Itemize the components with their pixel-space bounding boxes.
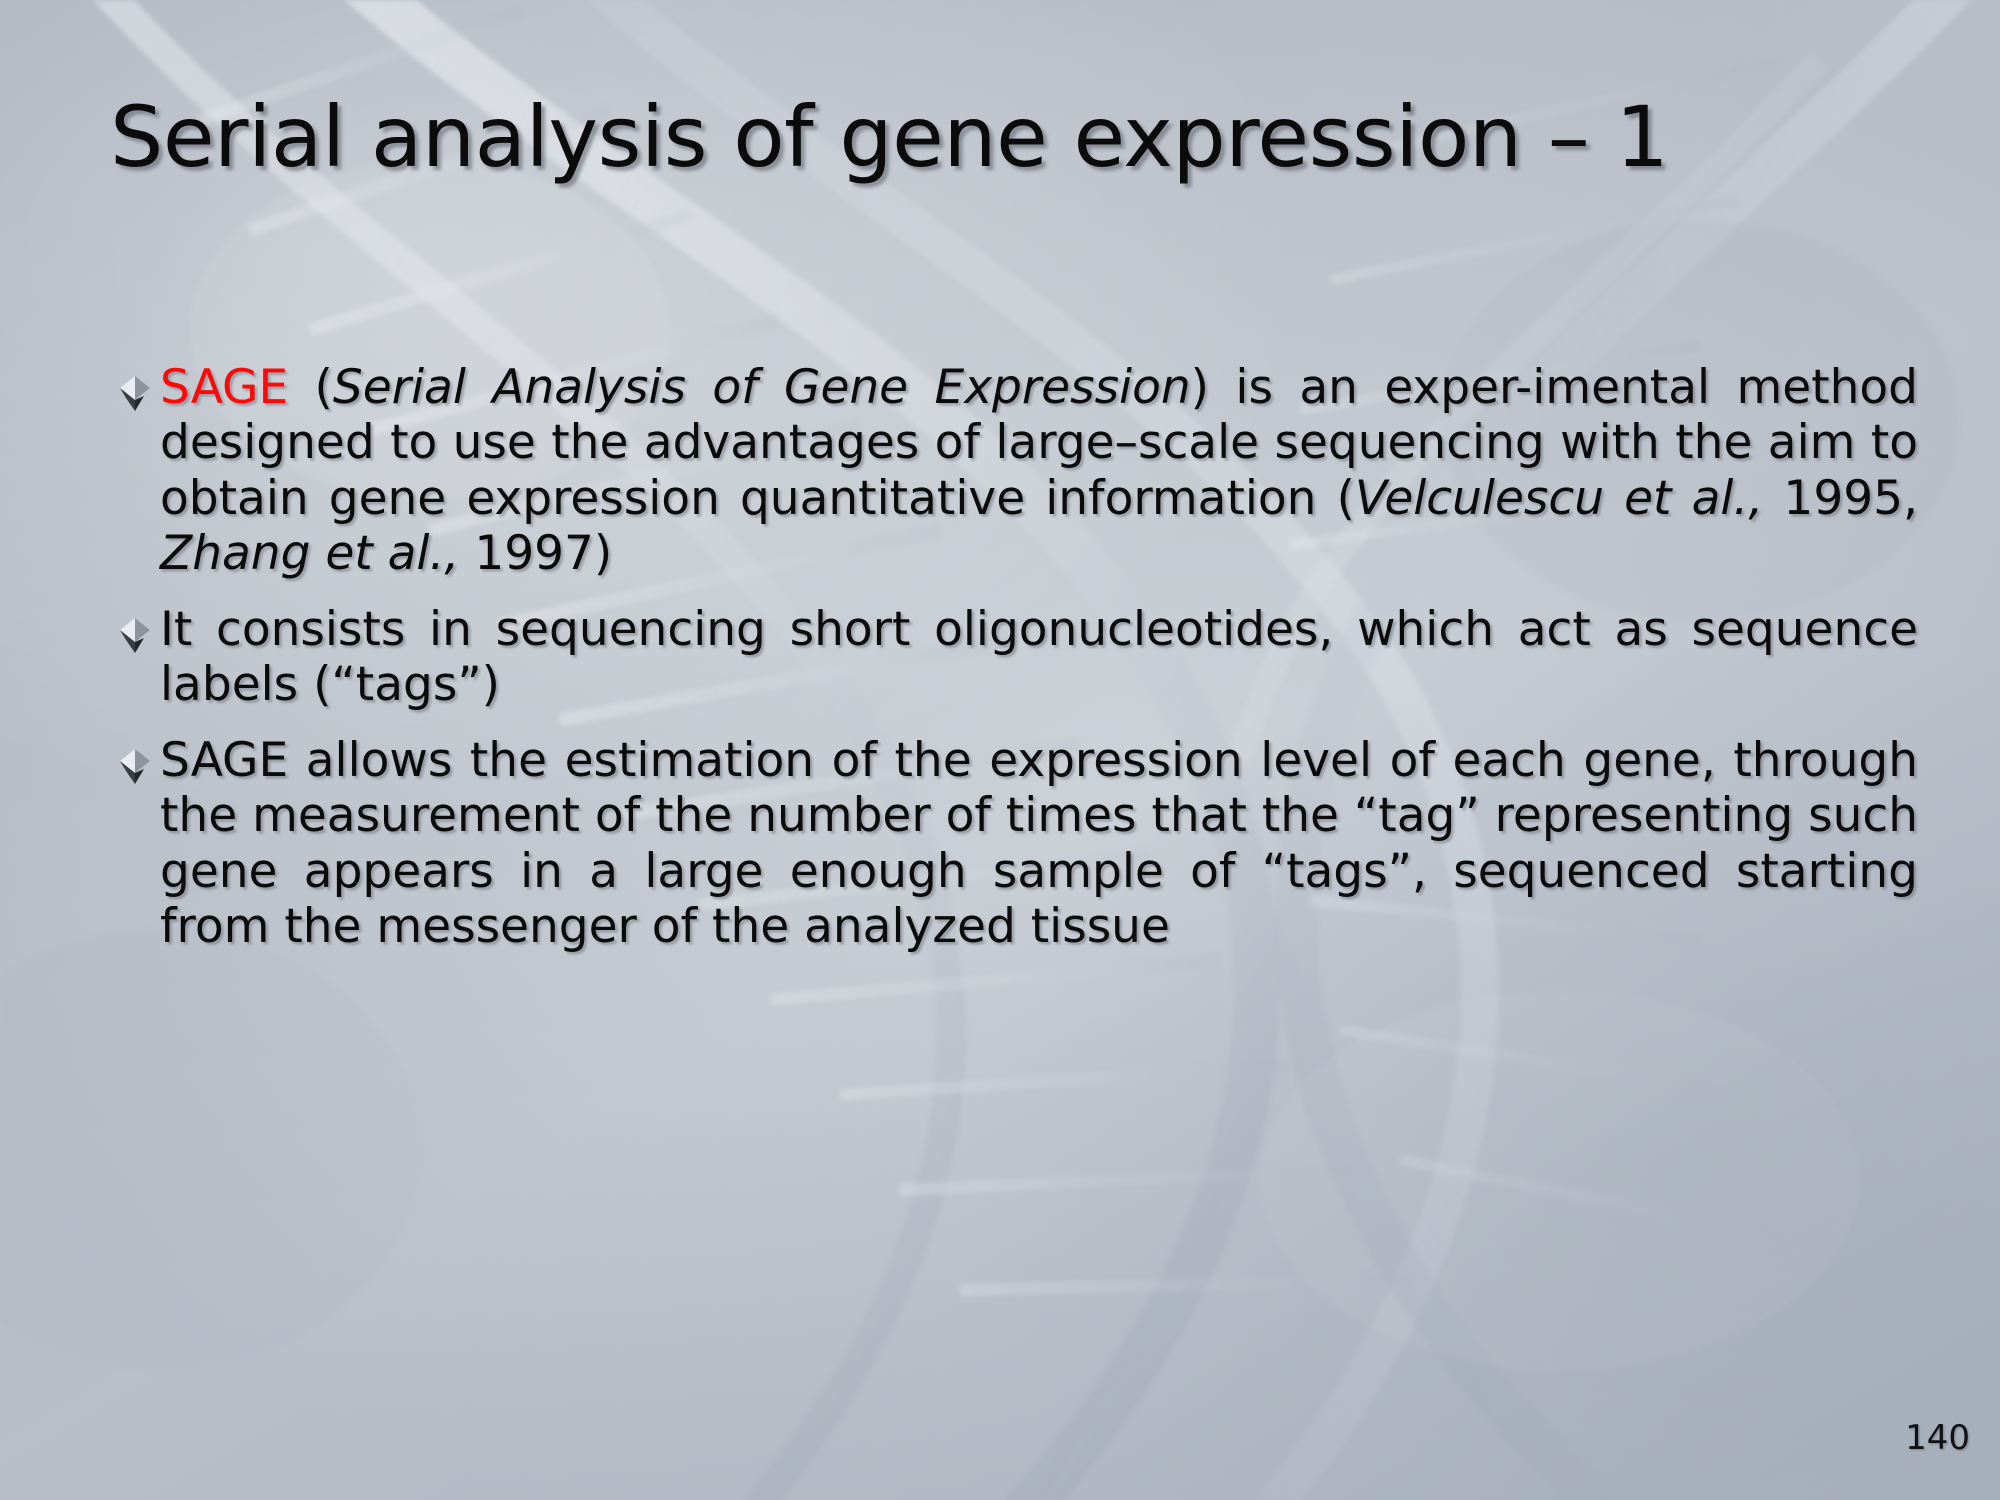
- bullet-text: SAGE (Serial Analysis of Gene Expression…: [160, 360, 1918, 582]
- bullet-item: SAGE (Serial Analysis of Gene Expression…: [118, 360, 1918, 582]
- bullet-text: It consists in sequencing short oligonuc…: [160, 602, 1918, 713]
- bullet-text: SAGE allows the estimation of the expres…: [160, 733, 1918, 955]
- slide-page-number: 140: [1905, 1418, 1970, 1458]
- bullet-item: SAGE allows the estimation of the expres…: [118, 733, 1918, 955]
- diamond-arrow-bullet-icon: [118, 747, 152, 793]
- bullet-segment: (: [288, 360, 333, 415]
- bullet-segment: It consists in sequencing short oligonuc…: [160, 602, 1918, 712]
- sage-keyword: SAGE: [160, 360, 288, 415]
- slide-body: SAGE (Serial Analysis of Gene Expression…: [118, 360, 1918, 975]
- bullet-segment: 1997): [459, 526, 612, 581]
- bullet-segment-italic: Serial Analysis of Gene Expression: [333, 360, 1191, 415]
- citation-zhang: Zhang et al.,: [160, 526, 459, 581]
- bullet-item: It consists in sequencing short oligonuc…: [118, 602, 1918, 713]
- diamond-arrow-bullet-icon: [118, 616, 152, 662]
- citation-velculescu: Velculescu et al.,: [1355, 471, 1763, 526]
- diamond-arrow-bullet-icon: [118, 374, 152, 420]
- presentation-slide: Serial analysis of gene expression – 1 S…: [0, 0, 2000, 1500]
- bullet-segment: SAGE allows the estimation of the expres…: [160, 733, 1918, 954]
- slide-title: Serial analysis of gene expression – 1: [110, 95, 1910, 179]
- bullet-segment: 1995,: [1763, 471, 1918, 526]
